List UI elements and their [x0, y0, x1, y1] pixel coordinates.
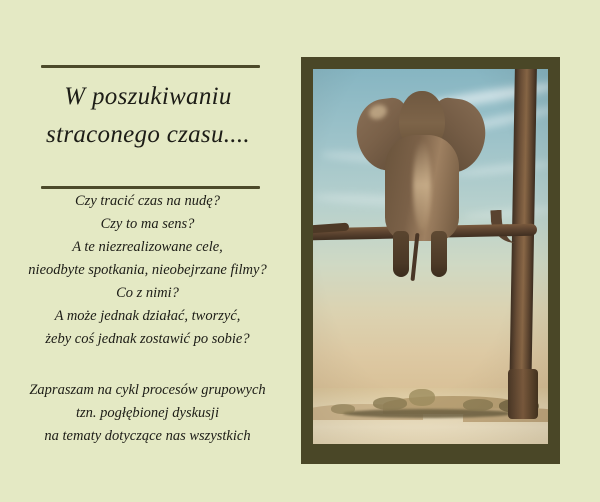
invitation-line: tzn. pogłębionej dyskusji: [0, 402, 295, 425]
elephant-leg-left: [393, 231, 409, 277]
poster-canvas: W poszukiwaniu straconego czasu.... Czy …: [0, 0, 600, 502]
verse-line: A może jednak działać, tworzyć,: [0, 305, 295, 328]
verse-line: Czy tracić czas na nudę?: [0, 190, 295, 213]
elephant: [357, 83, 485, 243]
page-title: W poszukiwaniu straconego czasu....: [8, 78, 288, 154]
verse-line: nieodbyte spotkania, nieobejrzane filmy?: [0, 259, 295, 282]
text-column: W poszukiwaniu straconego czasu.... Czy …: [0, 0, 295, 502]
desert-scrub: [331, 404, 355, 414]
verse-line: Co z nimi?: [0, 282, 295, 305]
invitation-line: Zapraszam na cykl procesów grupowych: [0, 379, 295, 402]
elephant-spine-highlight: [413, 139, 431, 231]
desert-scrub: [463, 399, 493, 411]
title-line-2: straconego czasu....: [8, 116, 288, 154]
tree-trunk-base: [508, 369, 538, 419]
verse-line: żeby coś jednak zostawić po sobie?: [0, 328, 295, 351]
divider-rule-middle: [41, 186, 260, 189]
verse-line: Czy to ma sens?: [0, 213, 295, 236]
desert-scrub: [409, 389, 435, 406]
photo-frame: [301, 57, 560, 464]
title-line-1: W poszukiwaniu: [8, 78, 288, 116]
verse-block: Czy tracić czas na nudę? Czy to ma sens?…: [0, 190, 295, 351]
desert-scrub: [373, 397, 407, 410]
invitation-block: Zapraszam na cykl procesów grupowych tzn…: [0, 379, 295, 448]
invitation-line: na tematy dotyczące nas wszystkich: [0, 425, 295, 448]
elephant-photo: [313, 69, 548, 444]
divider-rule-top: [41, 65, 260, 68]
verse-line: A te niezrealizowane cele,: [0, 236, 295, 259]
ground-shadow: [343, 409, 513, 418]
elephant-leg-right: [431, 231, 447, 277]
